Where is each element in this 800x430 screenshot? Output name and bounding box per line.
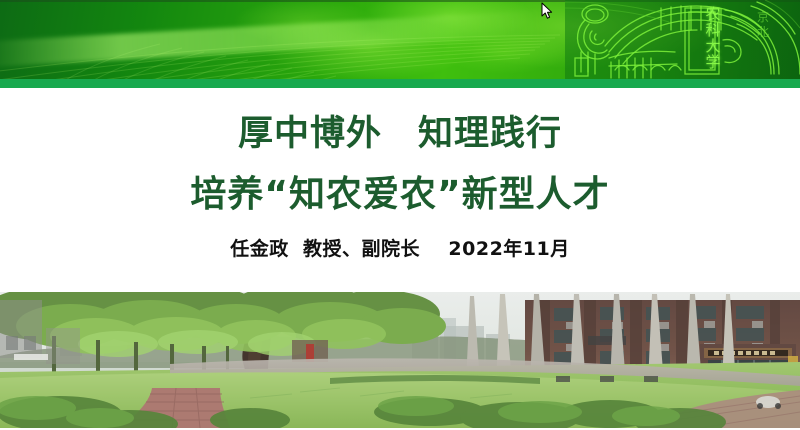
emblem-secondary-vertical-text: 京 北 [754, 10, 772, 40]
banner-accent-stripe [0, 79, 800, 88]
slide-header-banner: 农 科 大 学 京 北 [0, 0, 800, 88]
university-gate-emblem-icon: 农 科 大 学 京 北 [565, 0, 800, 79]
slide-title-line-2: 培养“知农爱农”新型人才 [0, 173, 800, 217]
presentation-slide: 农 科 大 学 京 北 厚中博外 知理践行 培养“知农爱农”新型人才 任金政 教… [0, 0, 800, 430]
title-block: 厚中博外 知理践行 培养“知农爱农”新型人才 任金政 教授、副院长 2022年1… [0, 88, 800, 292]
campus-photo [0, 292, 800, 428]
emblem-vertical-text: 农 科 大 学 [702, 6, 724, 70]
slide-title-line-1: 厚中博外 知理践行 [0, 113, 800, 155]
slide-presenter-and-date: 任金政 教授、副院长 2022年11月 [0, 236, 800, 262]
